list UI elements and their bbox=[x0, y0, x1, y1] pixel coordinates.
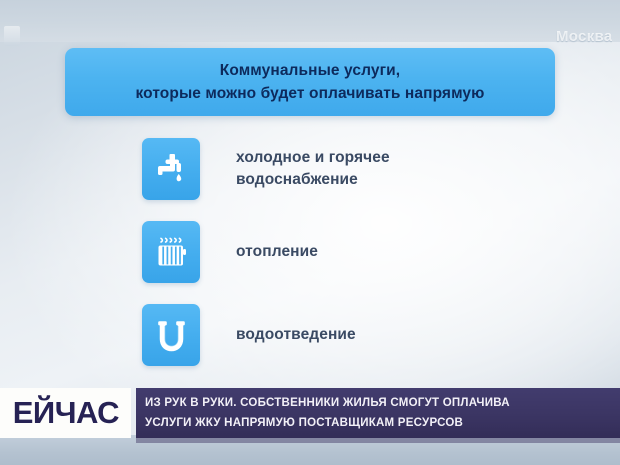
list-item-label-line-1: водоотведение bbox=[236, 324, 356, 346]
background-top-band bbox=[0, 0, 620, 42]
services-list: холодное и горячее водоснабжение bbox=[142, 138, 562, 387]
list-item-label: холодное и горячее водоснабжение bbox=[236, 147, 390, 192]
list-item-label-line-1: холодное и горячее bbox=[236, 147, 390, 169]
channel-watermark: Москва bbox=[556, 28, 612, 45]
ticker-brand-label: ЕЙЧАС bbox=[13, 395, 119, 431]
faucet-icon bbox=[142, 138, 200, 200]
page-title: Коммунальные услуги, которые можно будет… bbox=[125, 59, 494, 106]
ticker-headline-line-1: ИЗ РУК В РУКИ. СОБСТВЕННИКИ ЖИЛЬЯ СМОГУТ… bbox=[145, 393, 620, 413]
title-line-1: Коммунальные услуги, bbox=[135, 59, 484, 82]
title-plate: Коммунальные услуги, которые можно будет… bbox=[65, 48, 555, 116]
ticker-headline-line-2: УСЛУГИ ЖКУ НАПРЯМУЮ ПОСТАВЩИКАМ РЕСУРСОВ bbox=[145, 413, 620, 433]
drain-pipe-icon bbox=[142, 304, 200, 366]
ticker-headline-bar: ИЗ РУК В РУКИ. СОБСТВЕННИКИ ЖИЛЬЯ СМОГУТ… bbox=[136, 388, 620, 438]
list-item-label-line-2: водоснабжение bbox=[236, 169, 390, 191]
list-item-label: водоотведение bbox=[236, 324, 356, 346]
list-item: водоотведение bbox=[142, 304, 562, 366]
list-item: отопление bbox=[142, 221, 562, 283]
ticker-drop-shadow bbox=[136, 438, 620, 443]
ticker-brand-plate: ЕЙЧАС bbox=[0, 388, 131, 438]
list-item-label: отопление bbox=[236, 241, 318, 263]
list-item-label-line-1: отопление bbox=[236, 241, 318, 263]
broadcast-screen: Москва Коммунальные услуги, которые можн… bbox=[0, 0, 620, 465]
list-item: холодное и горячее водоснабжение bbox=[142, 138, 562, 200]
title-line-2: которые можно будет оплачивать напрямую bbox=[135, 82, 484, 105]
news-ticker: ЕЙЧАС ИЗ РУК В РУКИ. СОБСТВЕННИКИ ЖИЛЬЯ … bbox=[0, 388, 620, 438]
corner-smudge-mark bbox=[4, 26, 20, 46]
radiator-icon bbox=[142, 221, 200, 283]
